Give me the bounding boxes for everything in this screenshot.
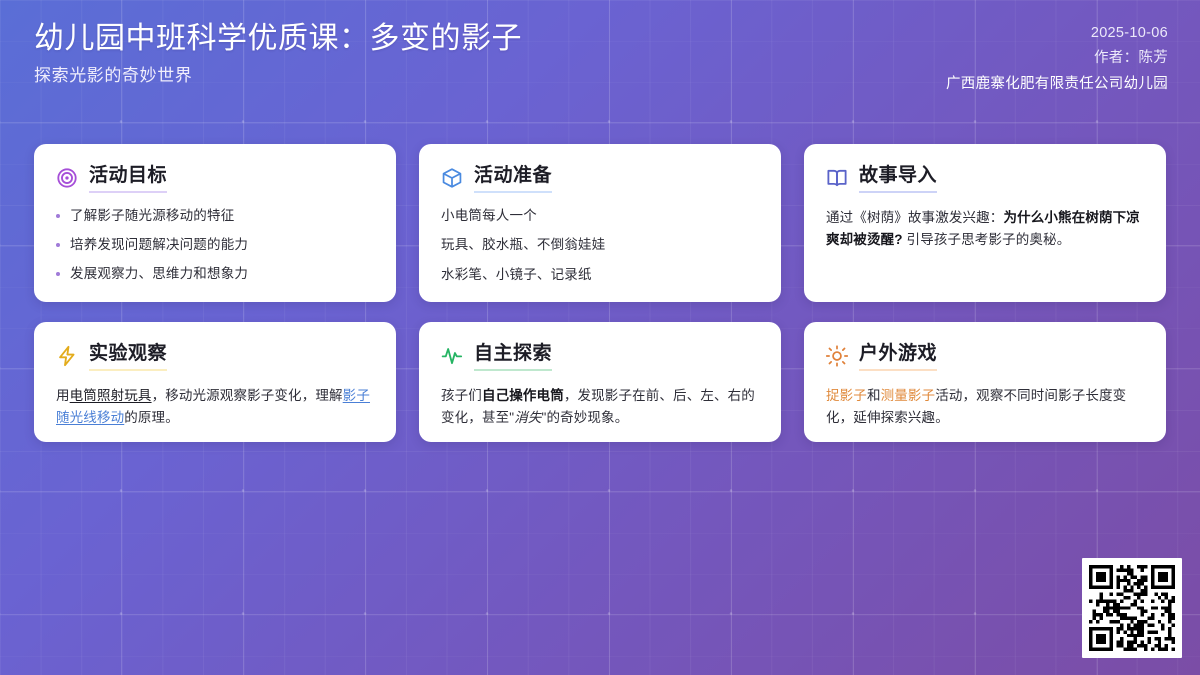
list-item: 小电筒每人一个: [441, 207, 759, 225]
list-item: 培养发现问题解决问题的能力: [56, 236, 374, 254]
card-story-intro: 故事导入 通过《树荫》故事激发兴趣：为什么小熊在树荫下凉爽却被烫醒? 引导孩子思…: [804, 144, 1166, 302]
card-header: 实验观察: [56, 342, 374, 371]
card-body-text: 通过《树荫》故事激发兴趣：为什么小熊在树荫下凉爽却被烫醒? 引导孩子思考影子的奥…: [826, 207, 1144, 251]
card-experiment-observation: 实验观察 用电筒照射玩具，移动光源观察影子变化，理解影子随光线移动的原理。: [34, 322, 396, 442]
slide-header: 幼儿园中班科学优质课：多变的影子 探索光影的奇妙世界 2025-10-06 作者…: [0, 0, 1200, 120]
meta-date: 2025-10-06: [1091, 25, 1168, 41]
card-header: 自主探索: [441, 342, 759, 371]
card-title: 实验观察: [89, 342, 167, 371]
card-body-text: 用电筒照射玩具，移动光源观察影子变化，理解影子随光线移动的原理。: [56, 385, 374, 429]
target-icon: [56, 167, 78, 189]
slide-root: 幼儿园中班科学优质课：多变的影子 探索光影的奇妙世界 2025-10-06 作者…: [0, 0, 1200, 675]
preparation-list: 小电筒每人一个 玩具、胶水瓶、不倒翁娃娃 水彩笔、小镜子、记录纸: [441, 207, 759, 284]
card-self-exploration: 自主探索 孩子们自己操作电筒，发现影子在前、后、左、右的变化，甚至"消失"的奇妙…: [419, 322, 781, 442]
card-title: 活动目标: [89, 164, 167, 193]
header-title-block: 幼儿园中班科学优质课：多变的影子 探索光影的奇妙世界: [34, 22, 522, 86]
card-header: 活动目标: [56, 164, 374, 193]
card-title: 故事导入: [859, 164, 937, 193]
card-activity-preparation: 活动准备 小电筒每人一个 玩具、胶水瓶、不倒翁娃娃 水彩笔、小镜子、记录纸: [419, 144, 781, 302]
card-title: 户外游戏: [859, 342, 937, 371]
card-grid: 活动目标 了解影子随光源移动的特征 培养发现问题解决问题的能力 发展观察力、思维…: [34, 144, 1166, 442]
list-item: 水彩笔、小镜子、记录纸: [441, 266, 759, 284]
card-body-text: 捉影子和测量影子活动，观察不同时间影子长度变化，延伸探索兴趣。: [826, 385, 1144, 429]
header-meta-block: 2025-10-06 作者：陈芳 广西鹿寨化肥有限责任公司幼儿园: [946, 22, 1168, 93]
book-icon: [826, 167, 848, 189]
card-activity-goals: 活动目标 了解影子随光源移动的特征 培养发现问题解决问题的能力 发展观察力、思维…: [34, 144, 396, 302]
qr-code[interactable]: [1082, 558, 1182, 658]
meta-organization: 广西鹿寨化肥有限责任公司幼儿园: [946, 72, 1168, 93]
page-title: 幼儿园中班科学优质课：多变的影子: [34, 22, 522, 57]
list-item: 发展观察力、思维力和想象力: [56, 265, 374, 283]
card-header: 户外游戏: [826, 342, 1144, 371]
sun-icon: [826, 345, 848, 367]
card-body-text: 孩子们自己操作电筒，发现影子在前、后、左、右的变化，甚至"消失"的奇妙现象。: [441, 385, 759, 429]
card-title: 活动准备: [474, 164, 552, 193]
qr-code-image: [1089, 565, 1175, 651]
list-item: 了解影子随光源移动的特征: [56, 207, 374, 225]
goal-list: 了解影子随光源移动的特征 培养发现问题解决问题的能力 发展观察力、思维力和想象力: [56, 207, 374, 284]
card-header: 活动准备: [441, 164, 759, 193]
pulse-icon: [441, 345, 463, 367]
card-header: 故事导入: [826, 164, 1144, 193]
box-icon: [441, 167, 463, 189]
page-subtitle: 探索光影的奇妙世界: [34, 66, 522, 86]
card-outdoor-game: 户外游戏 捉影子和测量影子活动，观察不同时间影子长度变化，延伸探索兴趣。: [804, 322, 1166, 442]
list-item: 玩具、胶水瓶、不倒翁娃娃: [441, 236, 759, 254]
card-title: 自主探索: [474, 342, 552, 371]
lightning-icon: [56, 345, 78, 367]
meta-author: 作者：陈芳: [1094, 46, 1168, 67]
